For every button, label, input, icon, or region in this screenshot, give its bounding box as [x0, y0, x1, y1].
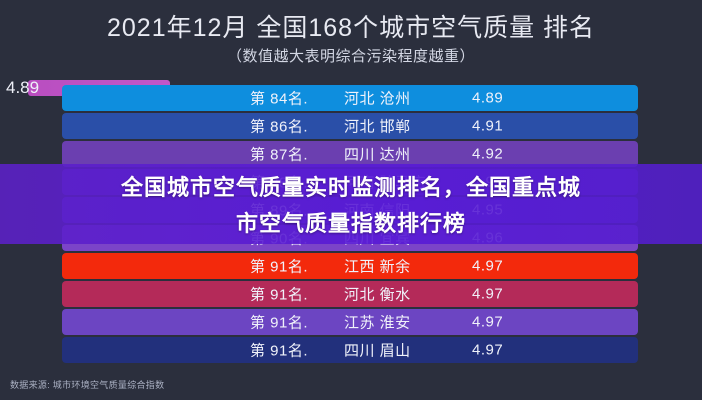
bar-row-city: 河北 沧州: [344, 88, 411, 109]
bar-row-rank: 第 86名.: [250, 116, 308, 137]
bar-row: 第 84名.河北 沧州4.89: [62, 85, 638, 111]
bar-row-value: 4.97: [472, 314, 503, 331]
overlay-banner-text: 全国城市空气质量实时监测排名，全国重点城 市空气质量指数排行榜: [0, 164, 702, 244]
bar-row-rank: 第 91名.: [250, 256, 308, 277]
page-title: 2021年12月 全国168个城市空气质量 排名: [0, 8, 702, 44]
bar-row-city: 河北 衡水: [344, 284, 411, 305]
bar-row-value: 4.97: [472, 258, 503, 275]
leader-value-label: 4.89: [6, 78, 39, 98]
bar-row-rank: 第 91名.: [250, 312, 308, 333]
bar-row-value: 4.89: [472, 90, 503, 107]
bar-row-rank: 第 91名.: [250, 284, 308, 305]
page-subtitle: （数值越大表明综合污染程度越重）: [0, 45, 702, 66]
bar-row-city: 河北 邯郸: [344, 116, 411, 137]
overlay-line-1: 全国城市空气质量实时监测排名，全国重点城: [121, 170, 581, 202]
bar-row-city: 四川 达州: [344, 144, 411, 165]
bar-row-value: 4.91: [472, 118, 503, 135]
bar-row-city: 四川 眉山: [344, 340, 411, 361]
bar-row: 第 86名.河北 邯郸4.91: [62, 113, 638, 139]
overlay-line-2: 市空气质量指数排行榜: [236, 206, 466, 238]
bar-row-rank: 第 87名.: [250, 144, 308, 165]
bar-row: 第 91名.江西 新余4.97: [62, 253, 638, 279]
bar-row: 第 91名.四川 眉山4.97: [62, 337, 638, 363]
bar-row: 第 91名.河北 衡水4.97: [62, 281, 638, 307]
bar-row: 第 91名.江苏 淮安4.97: [62, 309, 638, 335]
bar-row-value: 4.97: [472, 342, 503, 359]
bar-row-rank: 第 91名.: [250, 340, 308, 361]
bar-row-value: 4.97: [472, 286, 503, 303]
chart-canvas: 2021年12月 全国168个城市空气质量 排名 （数值越大表明综合污染程度越重…: [0, 0, 702, 400]
bar-row-city: 江西 新余: [344, 256, 411, 277]
data-source-note: 数据来源: 城市环境空气质量综合指数: [10, 378, 164, 391]
bar-row-value: 4.92: [472, 146, 503, 163]
bar-row-city: 江苏 淮安: [344, 312, 411, 333]
bar-row-rank: 第 84名.: [250, 88, 308, 109]
